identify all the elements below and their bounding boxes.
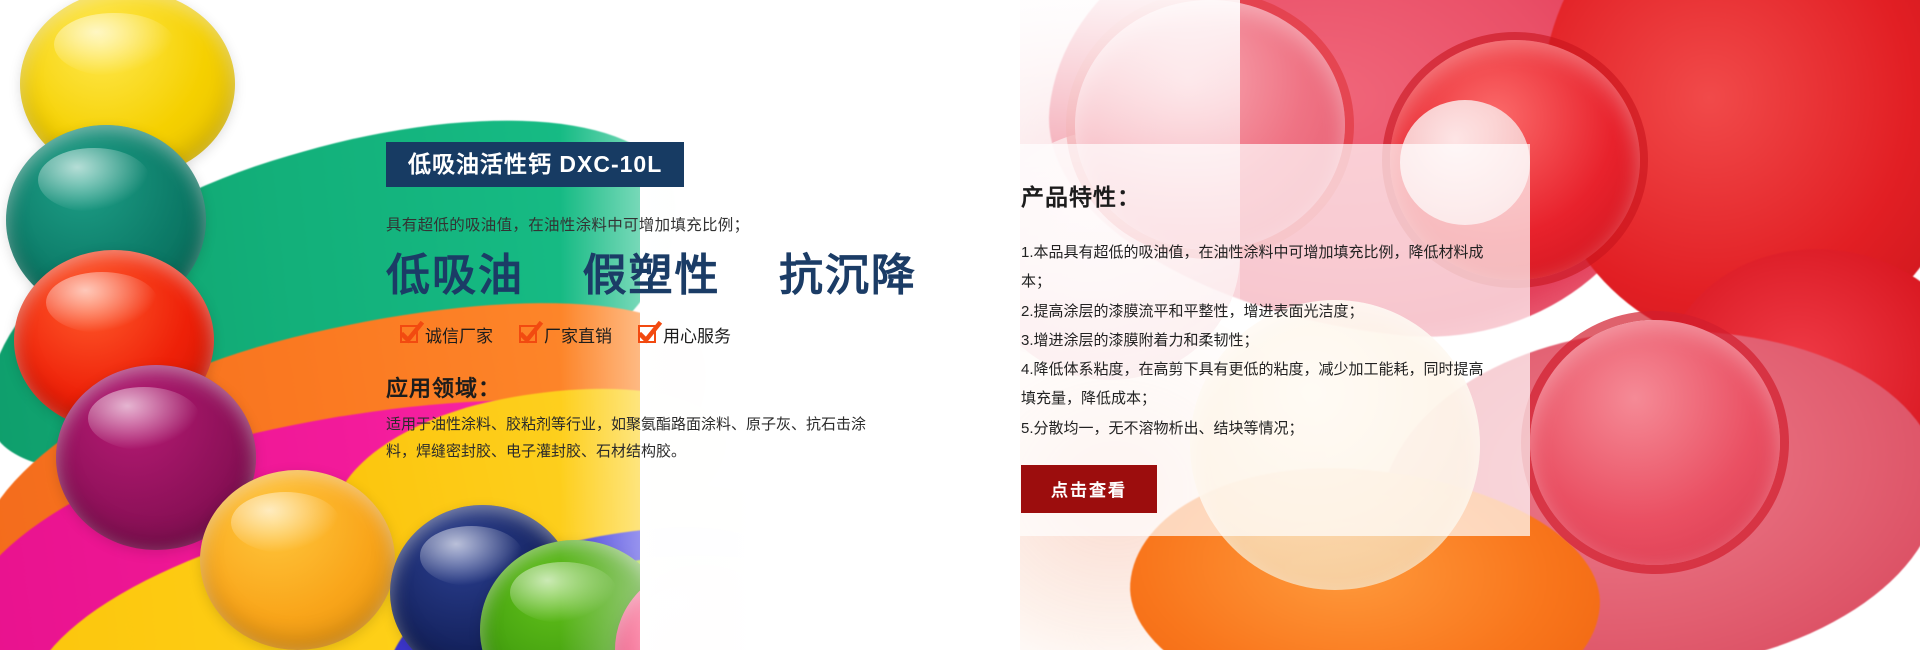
trust-badge-label: 用心服务 (663, 322, 731, 347)
promo-banner: 低吸油活性钙 DXC-10L 具有超低的吸油值，在油性涂料中可增加填充比例； 低… (0, 0, 1920, 650)
trust-badge-label: 厂家直销 (544, 322, 612, 347)
product-headline: 低吸油 假塑性 抗沉降 (386, 251, 1006, 302)
feature-list-item: 5.分散均一，无不溶物析出、结块等情况； (1021, 414, 1494, 443)
paint-pot-amber (200, 470, 395, 650)
trust-badge-item: 用心服务 (638, 322, 731, 347)
application-heading: 应用领域： (386, 371, 1006, 403)
product-subtitle: 具有超低的吸油值，在油性涂料中可增加填充比例； (386, 213, 1006, 235)
headline-part-2: 假塑性 (582, 251, 720, 300)
feature-list-item: 2.提高涂层的漆膜流平和平整性，增进表面光洁度； (1021, 297, 1494, 326)
headline-part-1: 低吸油 (386, 251, 524, 300)
features-panel: 产品特性： 1.本品具有超低的吸油值，在油性涂料中可增加填充比例，降低材料成本；… (985, 144, 1530, 536)
application-body-text: 适用于油性涂料、胶粘剂等行业，如聚氨酯路面涂料、原子灰、抗石击涂料，焊缝密封胶、… (386, 411, 886, 467)
feature-list-item: 4.降低体系粘度，在高剪下具有更低的粘度，减少加工能耗，同时提高填充量，降低成本… (1021, 355, 1494, 414)
view-details-button[interactable]: 点击查看 (1021, 465, 1157, 513)
features-panel-heading: 产品特性： (1021, 178, 1494, 212)
checkbox-checked-icon (400, 325, 418, 343)
trust-badge-item: 厂家直销 (519, 322, 612, 347)
trust-badge-row: 诚信厂家 厂家直销 用心服务 (400, 322, 1006, 347)
product-title-badge: 低吸油活性钙 DXC-10L (386, 142, 684, 187)
paint-pot-strawberry (1530, 320, 1780, 565)
trust-badge-item: 诚信厂家 (400, 322, 493, 347)
feature-list-item: 3.增进涂层的漆膜附着力和柔韧性； (1021, 326, 1494, 355)
headline-part-3: 抗沉降 (779, 251, 917, 300)
features-list: 1.本品具有超低的吸油值，在油性涂料中可增加填充比例，降低材料成本； 2.提高涂… (1021, 238, 1494, 443)
trust-badge-label: 诚信厂家 (425, 322, 493, 347)
checkbox-checked-icon (638, 325, 656, 343)
product-copy-block: 低吸油活性钙 DXC-10L 具有超低的吸油值，在油性涂料中可增加填充比例； 低… (386, 142, 1006, 466)
feature-list-item: 1.本品具有超低的吸油值，在油性涂料中可增加填充比例，降低材料成本； (1021, 238, 1494, 297)
checkbox-checked-icon (519, 325, 537, 343)
